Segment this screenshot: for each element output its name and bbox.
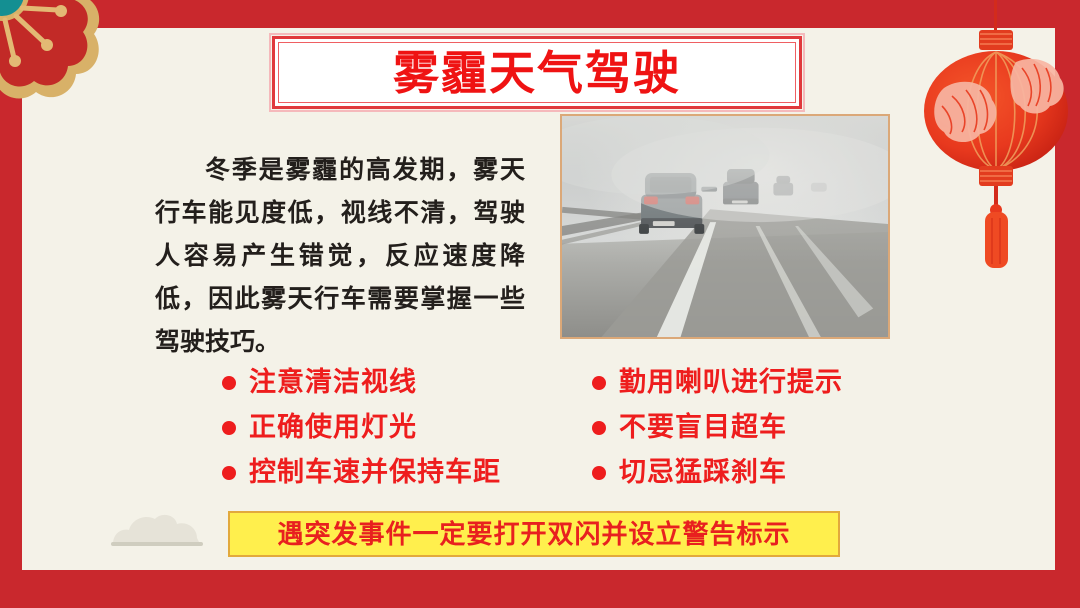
cloud-ornament-icon xyxy=(105,508,225,550)
bullet-dot-icon xyxy=(592,466,606,480)
list-item[interactable]: 勤用喇叭进行提示 xyxy=(592,360,843,405)
list-item[interactable]: 不要盲目超车 xyxy=(592,405,843,450)
frame-bottom-border xyxy=(0,570,1080,608)
frame-top-border xyxy=(0,0,1080,28)
bullet-dot-icon xyxy=(592,421,606,435)
list-item[interactable]: 切忌猛踩刹车 xyxy=(592,450,843,495)
warning-banner-label: 遇突发事件一定要打开双闪并设立警告标示 xyxy=(277,521,790,547)
tips-list-right: 勤用喇叭进行提示 不要盲目超车 切忌猛踩刹车 xyxy=(592,360,843,495)
list-item-label: 切忌猛踩刹车 xyxy=(619,459,787,486)
list-item-label: 不要盲目超车 xyxy=(619,414,787,441)
list-item-label: 注意清洁视线 xyxy=(249,369,417,396)
list-item-label: 控制车速并保持车距 xyxy=(249,459,501,486)
chinese-new-year-flower-ornament xyxy=(0,0,118,122)
bullet-dot-icon xyxy=(222,421,236,435)
foggy-highway-photo xyxy=(560,114,890,339)
bullet-dot-icon xyxy=(222,376,236,390)
list-item[interactable]: 控制车速并保持车距 xyxy=(222,450,501,495)
intro-paragraph: 冬季是雾霾的高发期，雾天行车能见度低，视线不清，驾驶人容易产生错觉，反应速度降低… xyxy=(155,149,525,364)
bullet-dot-icon xyxy=(222,466,236,480)
list-item-label: 勤用喇叭进行提示 xyxy=(619,369,843,396)
red-hanging-lantern-icon xyxy=(922,0,1072,274)
page-title: 雾霾天气驾驶 xyxy=(393,50,681,96)
list-item[interactable]: 注意清洁视线 xyxy=(222,360,501,405)
bullet-dot-icon xyxy=(592,376,606,390)
list-item[interactable]: 正确使用灯光 xyxy=(222,405,501,450)
slide-title-box: 雾霾天气驾驶 xyxy=(272,36,802,109)
slide-canvas: 雾霾天气驾驶 冬季是雾霾的高发期，雾天行车能见度低，视线不清，驾驶人容易产生错觉… xyxy=(0,0,1080,608)
tips-list-left: 注意清洁视线 正确使用灯光 控制车速并保持车距 xyxy=(222,360,501,495)
list-item-label: 正确使用灯光 xyxy=(249,414,417,441)
warning-banner: 遇突发事件一定要打开双闪并设立警告标示 xyxy=(228,511,840,557)
